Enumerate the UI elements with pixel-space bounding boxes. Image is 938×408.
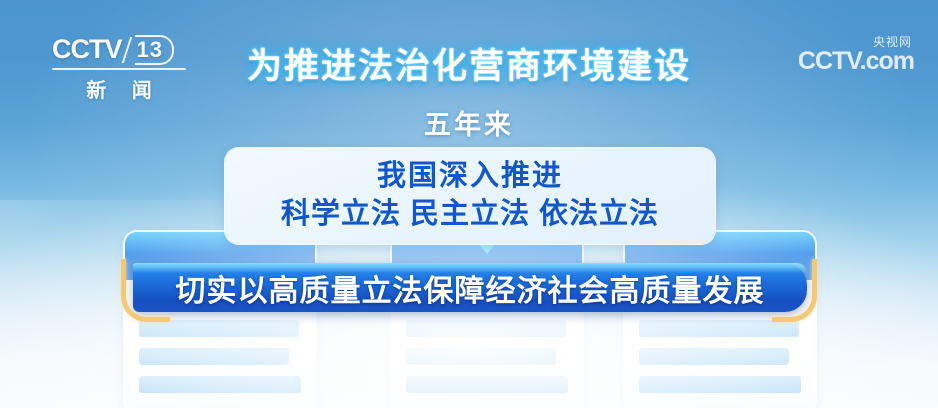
broadcast-frame: CCTV 13 新 闻 央视网 CCTV.com 为推进法治化营商环境建设 五年… [0, 0, 938, 408]
document-card-middle [392, 232, 582, 408]
headline-sub: 五年来 [0, 103, 938, 142]
card-text-line [639, 376, 801, 393]
card-text-line [139, 320, 299, 337]
info-panel-line-2: 科学立法 民主立法 依法立法 [281, 197, 659, 232]
card-text-line [139, 376, 301, 393]
card-text-line [639, 348, 789, 365]
card-text-line [406, 348, 556, 365]
info-panel: 我国深入推进 科学立法 民主立法 依法立法 [225, 148, 715, 244]
headline-main: 为推进法治化营商环境建设 [0, 48, 938, 87]
card-text-line [406, 376, 568, 393]
banner-gold-accent-right [772, 259, 817, 322]
card-text-line [139, 348, 289, 365]
lower-third-banner: 切实以高质量立法保障经济社会高质量发展 [133, 263, 807, 312]
banner-text: 切实以高质量立法保障经济社会高质量发展 [176, 266, 765, 310]
card-text-line [639, 320, 799, 337]
card-text-line [406, 320, 566, 337]
info-panel-line-1: 我国深入推进 [377, 160, 563, 193]
banner-gold-accent-left [121, 259, 170, 322]
